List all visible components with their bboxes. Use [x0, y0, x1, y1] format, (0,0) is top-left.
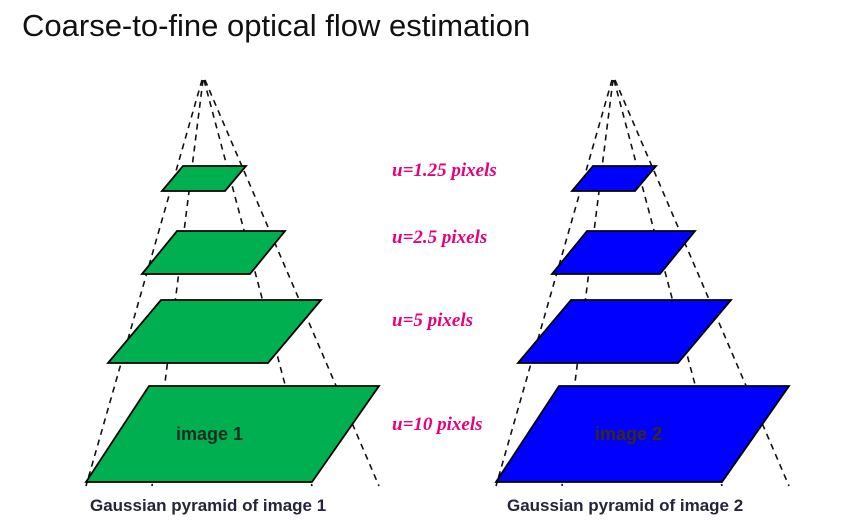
pyramid-2-level-3-slab	[518, 300, 731, 363]
pyramid-1-level-3-slab	[108, 300, 321, 363]
flow-label-level-4: u=10 pixels	[392, 414, 483, 436]
pyramid-2-level-1-slab	[572, 166, 656, 191]
flow-label-level-1: u=1.25 pixels	[392, 160, 497, 182]
pyramid-1-level-2-slab	[142, 231, 285, 274]
pyramid-2-base-label: image 2	[595, 424, 662, 445]
pyramid-1-caption: Gaussian pyramid of image 1	[90, 496, 326, 516]
pyramid-1-level-1-slab	[162, 166, 246, 191]
pyramid-2-caption: Gaussian pyramid of image 2	[507, 496, 743, 516]
pyramid-diagram	[0, 0, 855, 532]
pyramid-1-base-label: image 1	[176, 424, 243, 445]
flow-label-level-3: u=5 pixels	[392, 310, 473, 332]
flow-label-level-2: u=2.5 pixels	[392, 227, 487, 249]
slide-canvas: Coarse-to-fine optical flow estimation	[0, 0, 855, 532]
pyramid-2-level-2-slab	[552, 231, 695, 274]
